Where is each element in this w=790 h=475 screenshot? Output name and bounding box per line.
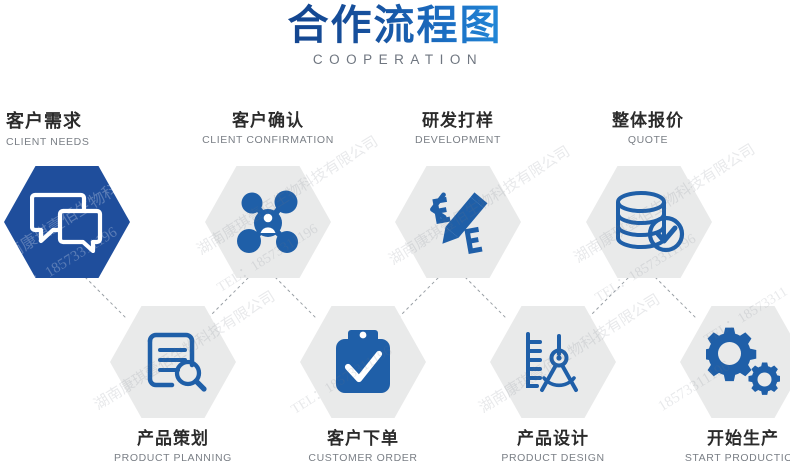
- step-label-client-needs: 客户需求 CLIENT NEEDS: [6, 110, 181, 148]
- step-title-cn: 产品设计: [458, 428, 648, 449]
- step-label-customer-order: 客户下单 CUSTOMER ORDER: [268, 428, 458, 464]
- step-hex-quote[interactable]: [586, 166, 712, 278]
- step-title-en: DEVELOPMENT: [363, 134, 553, 146]
- document-search-icon: [138, 327, 208, 397]
- step-label-product-design: 产品设计 PRODUCT DESIGN: [458, 428, 648, 464]
- step-label-product-planning: 产品策划 PRODUCT PLANNING: [78, 428, 268, 464]
- step-title-en: PRODUCT DESIGN: [458, 452, 648, 464]
- step-title-cn: 客户确认: [173, 110, 363, 131]
- step-hex-development[interactable]: [395, 166, 521, 278]
- step-title-cn: 开始生产: [648, 428, 790, 449]
- step-hex-customer-order[interactable]: [300, 306, 426, 418]
- step-hex-product-planning[interactable]: [110, 306, 236, 418]
- network-user-icon: [231, 187, 305, 257]
- step-hex-client-confirmation[interactable]: [205, 166, 331, 278]
- coins-check-icon: [611, 190, 687, 254]
- step-title-en: CUSTOMER ORDER: [268, 452, 458, 464]
- speech-bubbles-icon: [30, 191, 104, 253]
- step-label-quote: 整体报价 QUOTE: [553, 110, 743, 146]
- cooperation-flow-diagram: 合作流程图 COOPERATION 客户需求 CLIENT NEEDS 客户确认…: [0, 0, 790, 475]
- step-label-start-production: 开始生产 START PRODUCTION: [648, 428, 790, 464]
- pencil-design-icon: [422, 188, 494, 256]
- gears-icon: [706, 327, 780, 397]
- step-hex-start-production[interactable]: [680, 306, 790, 418]
- step-label-development: 研发打样 DEVELOPMENT: [363, 110, 553, 146]
- ruler-compass-icon: [518, 328, 588, 396]
- step-title-en: PRODUCT PLANNING: [78, 452, 268, 464]
- step-title-en: START PRODUCTION: [648, 452, 790, 464]
- title-chinese: 合作流程图: [288, 2, 503, 49]
- step-hex-client-needs[interactable]: [4, 166, 130, 278]
- clipboard-check-icon: [330, 327, 396, 397]
- step-title-en: CLIENT NEEDS: [6, 136, 181, 148]
- page-title: 合作流程图 COOPERATION: [0, 2, 790, 67]
- step-title-cn: 整体报价: [553, 110, 743, 131]
- step-title-en: CLIENT CONFIRMATION: [173, 134, 363, 146]
- step-title-cn: 客户下单: [268, 428, 458, 449]
- step-hex-product-design[interactable]: [490, 306, 616, 418]
- step-title-en: QUOTE: [553, 134, 743, 146]
- step-title-cn: 研发打样: [363, 110, 553, 131]
- step-title-cn: 客户需求: [6, 110, 181, 133]
- title-english: COOPERATION: [0, 52, 790, 67]
- step-title-cn: 产品策划: [78, 428, 268, 449]
- step-label-client-confirmation: 客户确认 CLIENT CONFIRMATION: [173, 110, 363, 146]
